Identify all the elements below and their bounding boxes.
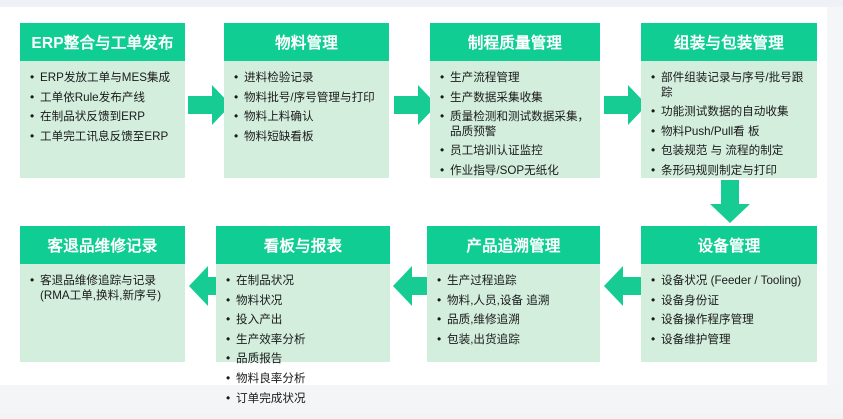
list-item: 投入产出 (225, 313, 381, 328)
diagram-canvas: ERP整合与工单发布 ERP发放工单与MES集成 工单依Rule发布产线 在制品… (0, 0, 843, 414)
card-erp-body: ERP发放工单与MES集成 工单依Rule发布产线 在制品状反馈到ERP 工单完… (20, 61, 185, 157)
list-item: 质量检测和测试数据采集， 品质预警 (439, 110, 591, 139)
list-item: 功能测试数据的自动收集 (650, 105, 808, 120)
list-item: 订单完成状况 (225, 392, 381, 407)
card-equipment[interactable]: 设备管理 设备状况 (Feeder / Tooling) 设备身份证 设备操作程… (641, 226, 817, 362)
list-item: 设备身份证 (650, 294, 808, 309)
card-traceability-title: 产品追溯管理 (427, 226, 600, 264)
list-item: 物料短缺看板 (233, 130, 380, 145)
list-item: 物料良率分析 (225, 372, 381, 387)
bottom-band (0, 385, 843, 414)
list-item: 品质报告 (225, 352, 381, 367)
list-item: 品质,维修追溯 (436, 313, 591, 328)
list-item: 生产过程追踪 (436, 274, 591, 289)
list-item: 物料上料确认 (233, 110, 380, 125)
card-rma-body: 客退品维修追踪与记录 (RMA工单,换料,新序号) (20, 264, 185, 316)
card-assembly-body: 部件组装记录与序号/批号跟 踪 功能测试数据的自动收集 物料Push/Pull看… (641, 61, 817, 192)
card-quality[interactable]: 制程质量管理 生产流程管理 生产数据采集收集 质量检测和测试数据采集， 品质预警… (430, 23, 600, 178)
card-equipment-title: 设备管理 (641, 226, 817, 264)
card-material-body: 进料检验记录 物料批号/序号管理与打印 物料上料确认 物料短缺看板 (224, 61, 389, 157)
list-item: 在制品状反馈到ERP (29, 110, 176, 125)
card-erp-title: ERP整合与工单发布 (20, 23, 185, 61)
right-gutter (827, 7, 843, 385)
card-erp[interactable]: ERP整合与工单发布 ERP发放工单与MES集成 工单依Rule发布产线 在制品… (20, 23, 185, 178)
card-assembly-title: 组装与包装管理 (641, 23, 817, 61)
card-material-title: 物料管理 (224, 23, 389, 61)
list-item: 物料,人员,设备 追溯 (436, 294, 591, 309)
list-item: 进料检验记录 (233, 71, 380, 86)
list-item: 物料Push/Pull看 板 (650, 125, 808, 140)
card-rma-title: 客退品维修记录 (20, 226, 185, 264)
list-item: 物料批号/序号管理与打印 (233, 91, 380, 106)
list-item: 物料状况 (225, 294, 381, 309)
list-item: 生产流程管理 (439, 71, 591, 86)
list-item: 在制品状况 (225, 274, 381, 289)
list-item: 工单完工讯息反馈至ERP (29, 130, 176, 145)
card-kanban-title: 看板与报表 (216, 226, 390, 264)
list-item: 客退品维修追踪与记录 (RMA工单,换料,新序号) (29, 274, 176, 303)
list-item: 包装,出货追踪 (436, 333, 591, 348)
list-item: 设备维护管理 (650, 333, 808, 348)
list-item: 生产效率分析 (225, 333, 381, 348)
list-item: 员工培训认证监控 (439, 144, 591, 159)
list-item: 设备操作程序管理 (650, 313, 808, 328)
card-traceability[interactable]: 产品追溯管理 生产过程追踪 物料,人员,设备 追溯 品质,维修追溯 包装,出货追… (427, 226, 600, 362)
list-item: 包装规范 与 流程的制定 (650, 144, 808, 159)
list-item: 条形码规则制定与打印 (650, 164, 808, 179)
card-kanban[interactable]: 看板与报表 在制品状况 物料状况 投入产出 生产效率分析 品质报告 物料良率分析… (216, 226, 390, 362)
card-kanban-body: 在制品状况 物料状况 投入产出 生产效率分析 品质报告 物料良率分析 订单完成状… (216, 264, 390, 419)
top-band (0, 0, 843, 7)
arrow-down-assembly-to-equipment (707, 180, 753, 224)
list-item: ERP发放工单与MES集成 (29, 71, 176, 86)
list-item: 设备状况 (Feeder / Tooling) (650, 274, 808, 289)
list-item: 工单依Rule发布产线 (29, 91, 176, 106)
card-material[interactable]: 物料管理 进料检验记录 物料批号/序号管理与打印 物料上料确认 物料短缺看板 (224, 23, 389, 178)
card-equipment-body: 设备状况 (Feeder / Tooling) 设备身份证 设备操作程序管理 设… (641, 264, 817, 360)
card-quality-body: 生产流程管理 生产数据采集收集 质量检测和测试数据采集， 品质预警 员工培训认证… (430, 61, 600, 192)
list-item: 生产数据采集收集 (439, 91, 591, 106)
card-traceability-body: 生产过程追踪 物料,人员,设备 追溯 品质,维修追溯 包装,出货追踪 (427, 264, 600, 360)
card-rma[interactable]: 客退品维修记录 客退品维修追踪与记录 (RMA工单,换料,新序号) (20, 226, 185, 362)
list-item: 作业指导/SOP无纸化 (439, 164, 591, 179)
card-quality-title: 制程质量管理 (430, 23, 600, 61)
card-assembly[interactable]: 组装与包装管理 部件组装记录与序号/批号跟 踪 功能测试数据的自动收集 物料Pu… (641, 23, 817, 178)
list-item: 部件组装记录与序号/批号跟 踪 (650, 71, 808, 100)
